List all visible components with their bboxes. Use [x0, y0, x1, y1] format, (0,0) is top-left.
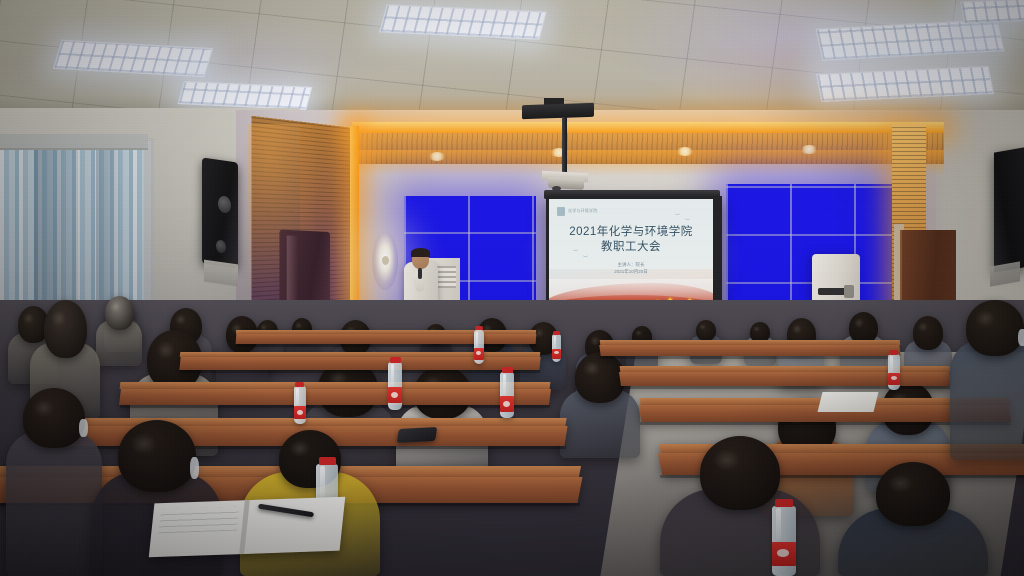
bottle-label-emblem: [777, 549, 789, 557]
bottle-cap: [475, 326, 483, 330]
bottle-cap: [502, 367, 513, 373]
bottle-highlight: [320, 466, 325, 498]
bottle-highlight: [776, 508, 781, 540]
bottle-label-emblem: [503, 401, 510, 407]
bottle-label-emblem: [891, 376, 897, 380]
bottle-cap: [889, 350, 898, 355]
bottle-label-emblem: [391, 392, 398, 398]
bottle-label-emblem: [297, 410, 303, 415]
bottle-cap: [553, 331, 560, 335]
bottle-cap: [390, 357, 401, 363]
bottle-cap: [295, 382, 304, 387]
water-bottles: [0, 0, 1024, 576]
bottle-label-emblem: [476, 351, 481, 355]
bottle-highlight: [296, 388, 299, 405]
open-notebook: [818, 392, 879, 412]
bottle-highlight: [391, 364, 394, 386]
bottle-cap: [775, 499, 793, 507]
bottle-highlight: [554, 336, 556, 349]
bottle-cap: [319, 457, 336, 465]
bottle-highlight: [476, 332, 478, 347]
bottle-highlight: [890, 356, 893, 372]
bottle-label-emblem: [554, 351, 559, 354]
smartphone: [397, 427, 438, 443]
notebook-writing: [159, 507, 240, 534]
conference-room-photo: ★ ★ ★ ★ ︶ ︶ ︶ ︶ 化学与环境学院 2021年化学与环境学院 教职工…: [0, 0, 1024, 576]
bottle-highlight: [503, 374, 506, 395]
